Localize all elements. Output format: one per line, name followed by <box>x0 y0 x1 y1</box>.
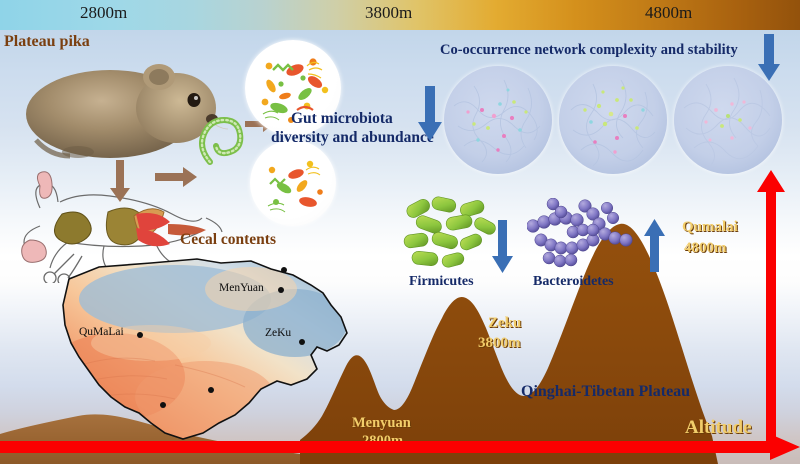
map-dot-extra-south <box>208 387 214 393</box>
network-circle-3 <box>674 66 782 174</box>
map-dot-zeku <box>299 339 305 345</box>
dissection-to-gut-arrow <box>155 165 199 189</box>
map-label-qumalai: QuMaLai <box>79 326 124 338</box>
map-label-menyuan: MenYuan <box>219 282 264 294</box>
pika-to-dissection-arrow <box>108 160 132 204</box>
peak-label-menyuan-name: Menyuan <box>352 415 411 432</box>
graphical-abstract: 2800m 3800m 4800m Plateau pika <box>0 0 800 464</box>
altitude-tick-3800: 3800m <box>365 3 412 23</box>
peak-label-zeku-elev: 3800m <box>478 335 521 352</box>
bacteroidetes-up-arrow-icon <box>644 218 666 272</box>
gut-microbiota-label-line1: Gut microbiota <box>291 110 393 128</box>
gut-microbiota-circle-low <box>250 140 336 226</box>
peak-label-qumalai-name: Qumalai <box>682 219 738 236</box>
bacteroidetes-label: Bacteroidetes <box>533 274 614 290</box>
intestine-illustration <box>190 110 246 166</box>
network-circle-1 <box>444 66 552 174</box>
map-dot-qumalai <box>137 332 143 338</box>
altitude-right-arrow-red <box>0 434 800 460</box>
altitude-up-arrow-red <box>756 170 786 450</box>
plateau-name-label: Qinghai-Tibetan Plateau <box>521 383 690 401</box>
network-title-label: Co-occurrence network complexity and sta… <box>440 42 738 59</box>
firmicutes-down-arrow-icon <box>492 220 514 274</box>
bacteroidetes-bacteria-illustration <box>527 198 639 272</box>
altitude-tick-4800: 4800m <box>645 3 692 23</box>
map-dot-menyuan <box>278 287 284 293</box>
map-label-zeku: ZeKu <box>265 327 291 339</box>
firmicutes-label: Firmicutes <box>409 274 474 290</box>
firmicutes-bacteria-illustration <box>398 196 502 274</box>
diversity-down-arrow-icon <box>417 86 443 142</box>
altitude-tick-2800: 2800m <box>80 3 127 23</box>
map-dot-extra-north <box>281 267 287 273</box>
peak-label-zeku-name: Zeku <box>488 315 521 332</box>
map-dot-extra-southwest <box>160 402 166 408</box>
qinghai-map: MenYuan ZeKu QuMaLai <box>55 247 355 443</box>
gut-microbiota-label-line2: diversity and abundance <box>271 129 434 147</box>
network-circle-2 <box>559 66 667 174</box>
peak-label-qumalai-elev: 4800m <box>684 240 727 257</box>
